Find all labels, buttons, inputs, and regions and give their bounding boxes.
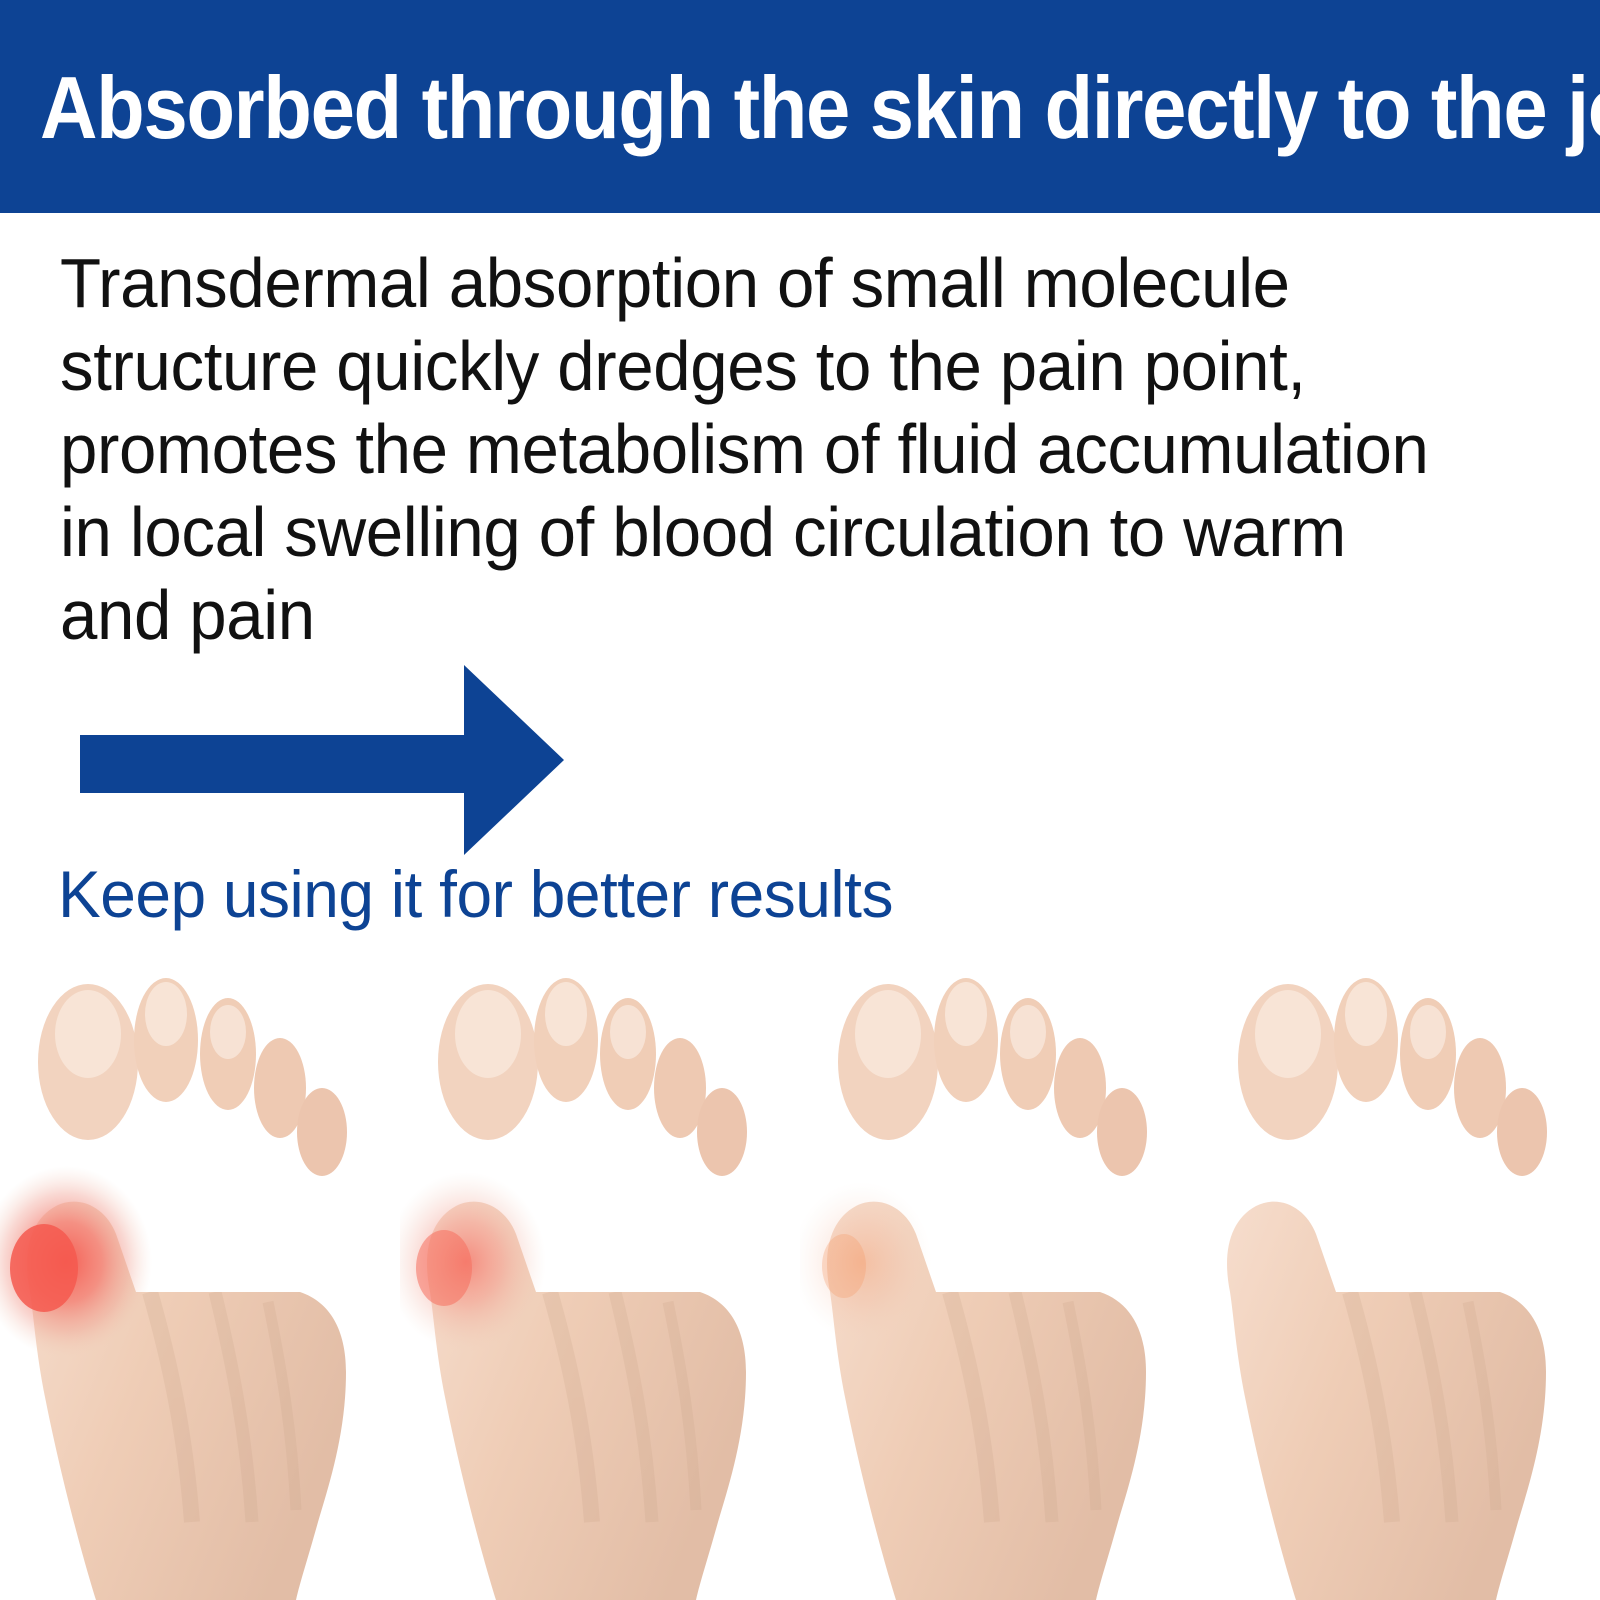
- inflammation-core: [10, 1224, 78, 1312]
- foot-stage-4: [1200, 962, 1600, 1600]
- banner-title: Absorbed through the skin directly to th…: [40, 62, 1434, 154]
- toes: [438, 978, 747, 1176]
- progress-arrow: [72, 655, 572, 865]
- foot-stage-3: [800, 962, 1200, 1600]
- toes: [1238, 978, 1547, 1176]
- right-arrow-icon: [80, 665, 564, 855]
- feet-progression-strip: [0, 962, 1600, 1600]
- toes: [838, 978, 1147, 1176]
- header-banner: Absorbed through the skin directly to th…: [0, 0, 1600, 213]
- inflammation-core: [822, 1234, 866, 1298]
- foot-stage-2: [400, 962, 800, 1600]
- body-paragraph: Transdermal absorption of small molecule…: [60, 242, 1471, 657]
- toes: [38, 978, 347, 1176]
- promo-page: Absorbed through the skin directly to th…: [0, 0, 1600, 1600]
- foot-body: [1227, 1202, 1546, 1600]
- inflammation-core: [416, 1230, 472, 1306]
- tagline-text: Keep using it for better results: [58, 856, 893, 932]
- foot-stage-1: [0, 962, 400, 1600]
